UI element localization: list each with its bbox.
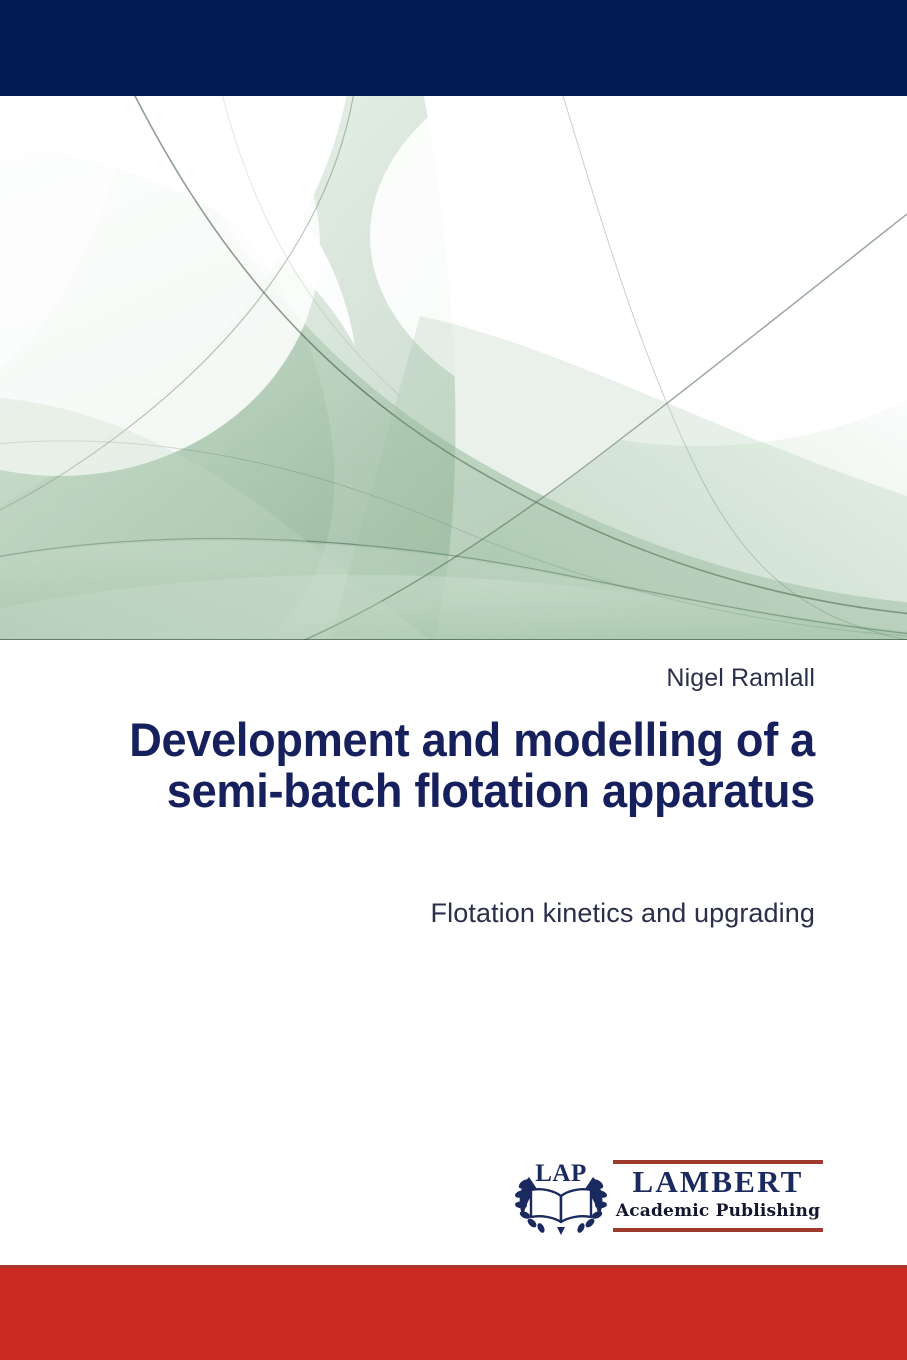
lap-emblem-icon: LAP <box>513 1157 609 1235</box>
book-title: Development and modelling of a semi-batc… <box>114 714 815 816</box>
author-name: Nigel Ramlall <box>666 664 815 693</box>
lambert-text: LAMBERT <box>613 1165 823 1199</box>
bottom-red-band <box>0 1265 907 1360</box>
svg-text:LAP: LAP <box>535 1160 587 1187</box>
logo-rule-bottom <box>613 1228 823 1232</box>
book-subtitle: Flotation kinetics and upgrading <box>85 898 815 929</box>
top-navy-band <box>0 0 907 96</box>
publisher-logo: LAP LAMBERT Academic Publishing <box>513 1157 823 1235</box>
lambert-wordmark: LAMBERT Academic Publishing <box>613 1160 823 1232</box>
abstract-green-ribbons-graphic <box>0 96 907 640</box>
book-cover: Nigel Ramlall Development and modelling … <box>0 0 907 1360</box>
cover-artwork <box>0 96 907 640</box>
academic-publishing-text: Academic Publishing <box>613 1201 823 1221</box>
open-book-laurel-wreath-icon: LAP <box>513 1157 609 1235</box>
